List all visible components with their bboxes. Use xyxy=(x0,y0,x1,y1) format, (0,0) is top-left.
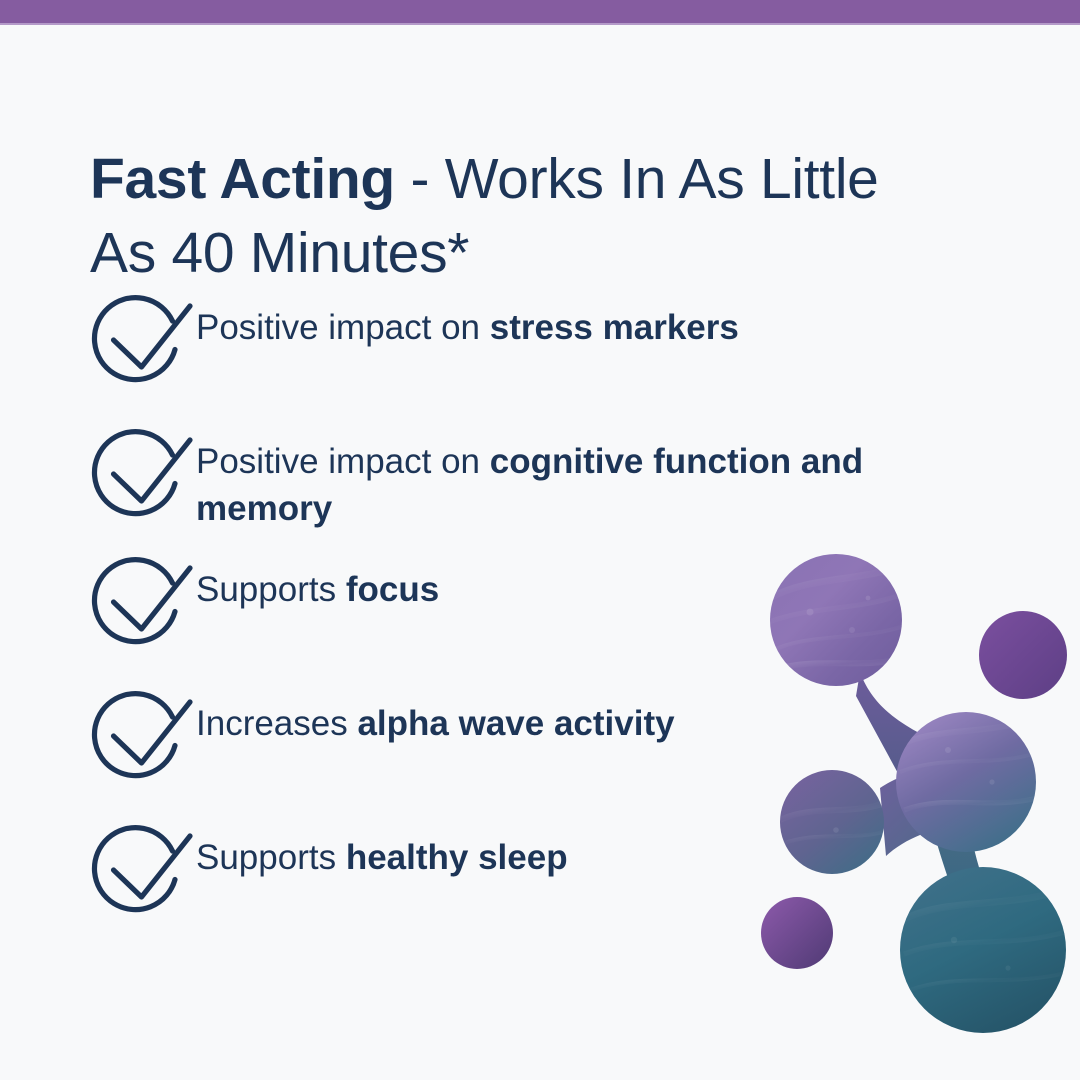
benefit-text: Positive impact on cognitive function an… xyxy=(196,422,886,532)
benefit-emphasis: focus xyxy=(346,570,439,609)
benefit-lead: Increases xyxy=(196,704,357,743)
check-circle-icon xyxy=(88,822,196,922)
check-circle-icon xyxy=(88,426,196,526)
list-item: Supports focus xyxy=(88,550,968,662)
check-circle-icon xyxy=(88,554,196,654)
benefit-lead: Supports xyxy=(196,838,346,877)
benefit-emphasis: alpha wave activity xyxy=(357,704,674,743)
benefit-emphasis: stress markers xyxy=(490,308,739,347)
benefit-list: Positive impact on stress markers Positi… xyxy=(88,288,968,930)
top-accent-bar xyxy=(0,0,1080,23)
benefit-text: Positive impact on stress markers xyxy=(196,288,886,351)
list-item: Positive impact on stress markers xyxy=(88,288,968,400)
benefit-lead: Positive impact on xyxy=(196,442,490,481)
check-circle-icon xyxy=(88,292,196,392)
list-item: Positive impact on cognitive function an… xyxy=(88,422,968,534)
benefit-text: Increases alpha wave activity xyxy=(196,684,886,747)
infographic-page: Fast Acting - Works In As Little As 40 M… xyxy=(0,0,1080,1080)
benefit-emphasis: healthy sleep xyxy=(346,838,568,877)
benefit-text: Supports healthy sleep xyxy=(196,818,886,881)
benefit-lead: Positive impact on xyxy=(196,308,490,347)
check-circle-icon xyxy=(88,688,196,788)
headline-emphasis: Fast Acting xyxy=(90,147,395,211)
page-headline: Fast Acting - Works In As Little As 40 M… xyxy=(90,142,950,290)
molecule-node-right-small xyxy=(979,611,1067,699)
list-item: Increases alpha wave activity xyxy=(88,684,968,796)
benefit-lead: Supports xyxy=(196,570,346,609)
list-item: Supports healthy sleep xyxy=(88,818,968,930)
benefit-text: Supports focus xyxy=(196,550,886,613)
top-accent-bar-edge xyxy=(0,23,1080,25)
